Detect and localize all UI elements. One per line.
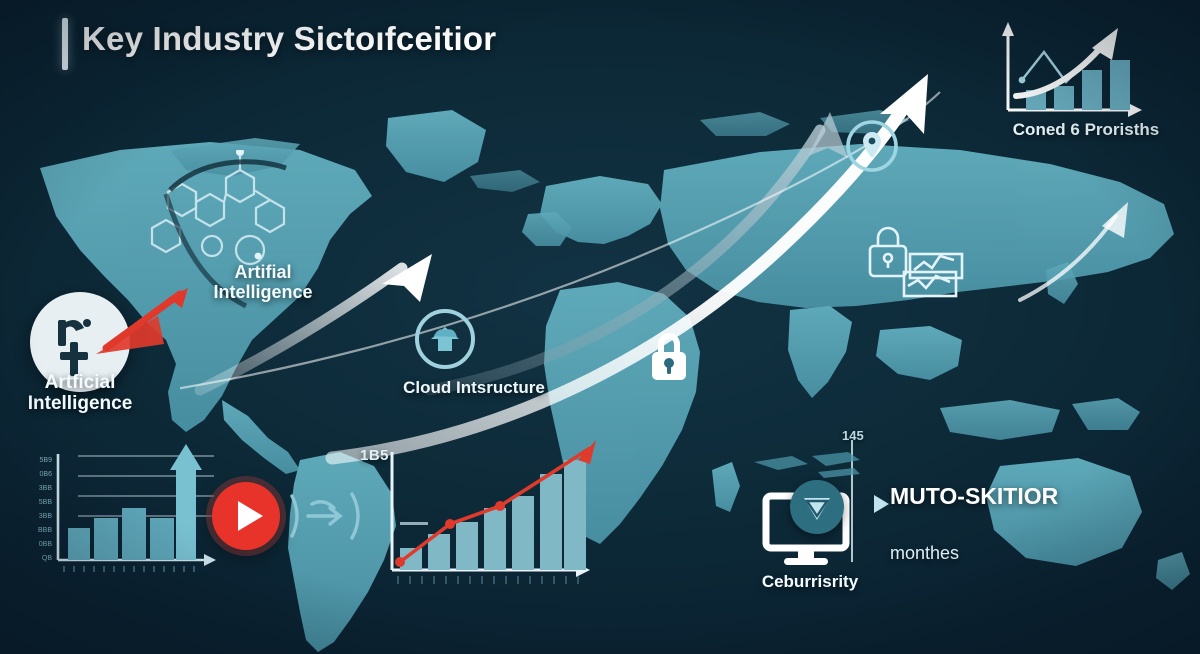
cybersecurity-label: Ceburrisrity xyxy=(730,572,890,592)
chart-mid xyxy=(352,430,602,600)
padlock-icon xyxy=(640,328,698,386)
page-title: Key Industry Sictoıfceitior xyxy=(82,20,496,58)
chart-left: 5B9 0B6 3BB 5BB 3BB BBB 0BB QB xyxy=(18,438,236,588)
svg-text:3BB: 3BB xyxy=(39,485,53,492)
sound-wave-icon xyxy=(286,482,362,550)
chart-top-right xyxy=(978,18,1194,124)
shield-check-icon xyxy=(790,480,844,534)
ai-map-label: Artifial Intelligence xyxy=(188,262,338,303)
location-pin-icon[interactable] xyxy=(844,118,900,174)
cloud-upload-icon[interactable] xyxy=(414,308,476,370)
red-pointer-arrow xyxy=(62,286,192,372)
shield-glyph xyxy=(790,480,844,534)
play-triangle xyxy=(238,501,263,531)
svg-text:0BB: 0BB xyxy=(39,541,53,548)
lock-chart-icon xyxy=(862,220,972,302)
top-right-caption: Coned 6 Prorisths xyxy=(978,120,1194,140)
svg-text:5BB: 5BB xyxy=(39,499,53,506)
stat-headline: MUTO-SKITIOR xyxy=(890,483,1080,509)
svg-text:0B6: 0B6 xyxy=(40,471,53,478)
svg-text:BBB: BBB xyxy=(38,527,52,534)
infographic-canvas: Key Industry Sictoıfceitior xyxy=(0,0,1200,654)
title-accent-bar xyxy=(62,18,68,70)
svg-text:3BB: 3BB xyxy=(39,513,53,520)
svg-text:QB: QB xyxy=(42,555,52,562)
cloud-label: Cloud Intsructure xyxy=(374,378,574,398)
svg-text:5B9: 5B9 xyxy=(40,457,53,464)
stat-bullet-triangle xyxy=(874,495,889,513)
decorative-islands xyxy=(748,448,868,488)
play-button-icon[interactable] xyxy=(212,482,280,550)
stat-subtext: monthes xyxy=(890,543,1080,564)
ai-badge-label: Artficial Intelligence xyxy=(0,372,160,415)
